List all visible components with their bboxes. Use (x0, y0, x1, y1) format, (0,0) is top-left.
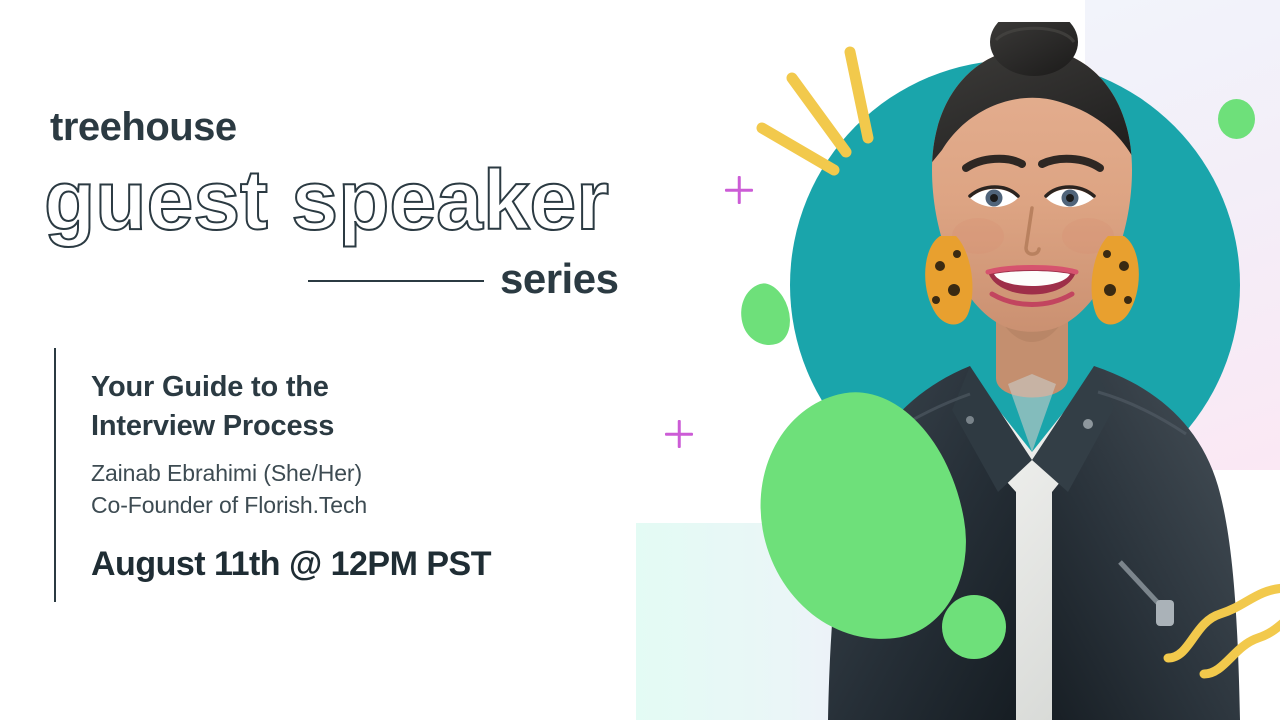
series-label: series (500, 252, 618, 307)
vertical-accent-rule (54, 348, 56, 602)
talk-title-line-1: Your Guide to the (91, 368, 611, 407)
talk-title-line-2: Interview Process (91, 407, 611, 446)
treehouse-logo-text: treehouse (50, 107, 237, 147)
series-divider-rule (308, 280, 484, 282)
slide-canvas: treehouse guest speaker series Your Guid… (0, 0, 1280, 720)
series-lockup: series (44, 252, 624, 308)
yellow-burst-icon (740, 30, 900, 190)
yellow-wavy-lines-icon (1160, 570, 1280, 680)
event-details: Your Guide to the Interview Process Zain… (91, 368, 611, 584)
plus-mark-icon-upper (725, 176, 753, 204)
speaker-role: Co-Founder of Florish.Tech (91, 489, 611, 521)
green-blob-icon-small (733, 278, 798, 352)
plus-mark-icon-lower (665, 420, 693, 448)
green-circle-icon (942, 595, 1006, 659)
headline-guest-speaker: guest speaker (44, 158, 609, 242)
speaker-name: Zainab Ebrahimi (She/Her) (91, 457, 611, 489)
event-datetime: August 11th @ 12PM PST (91, 544, 611, 585)
